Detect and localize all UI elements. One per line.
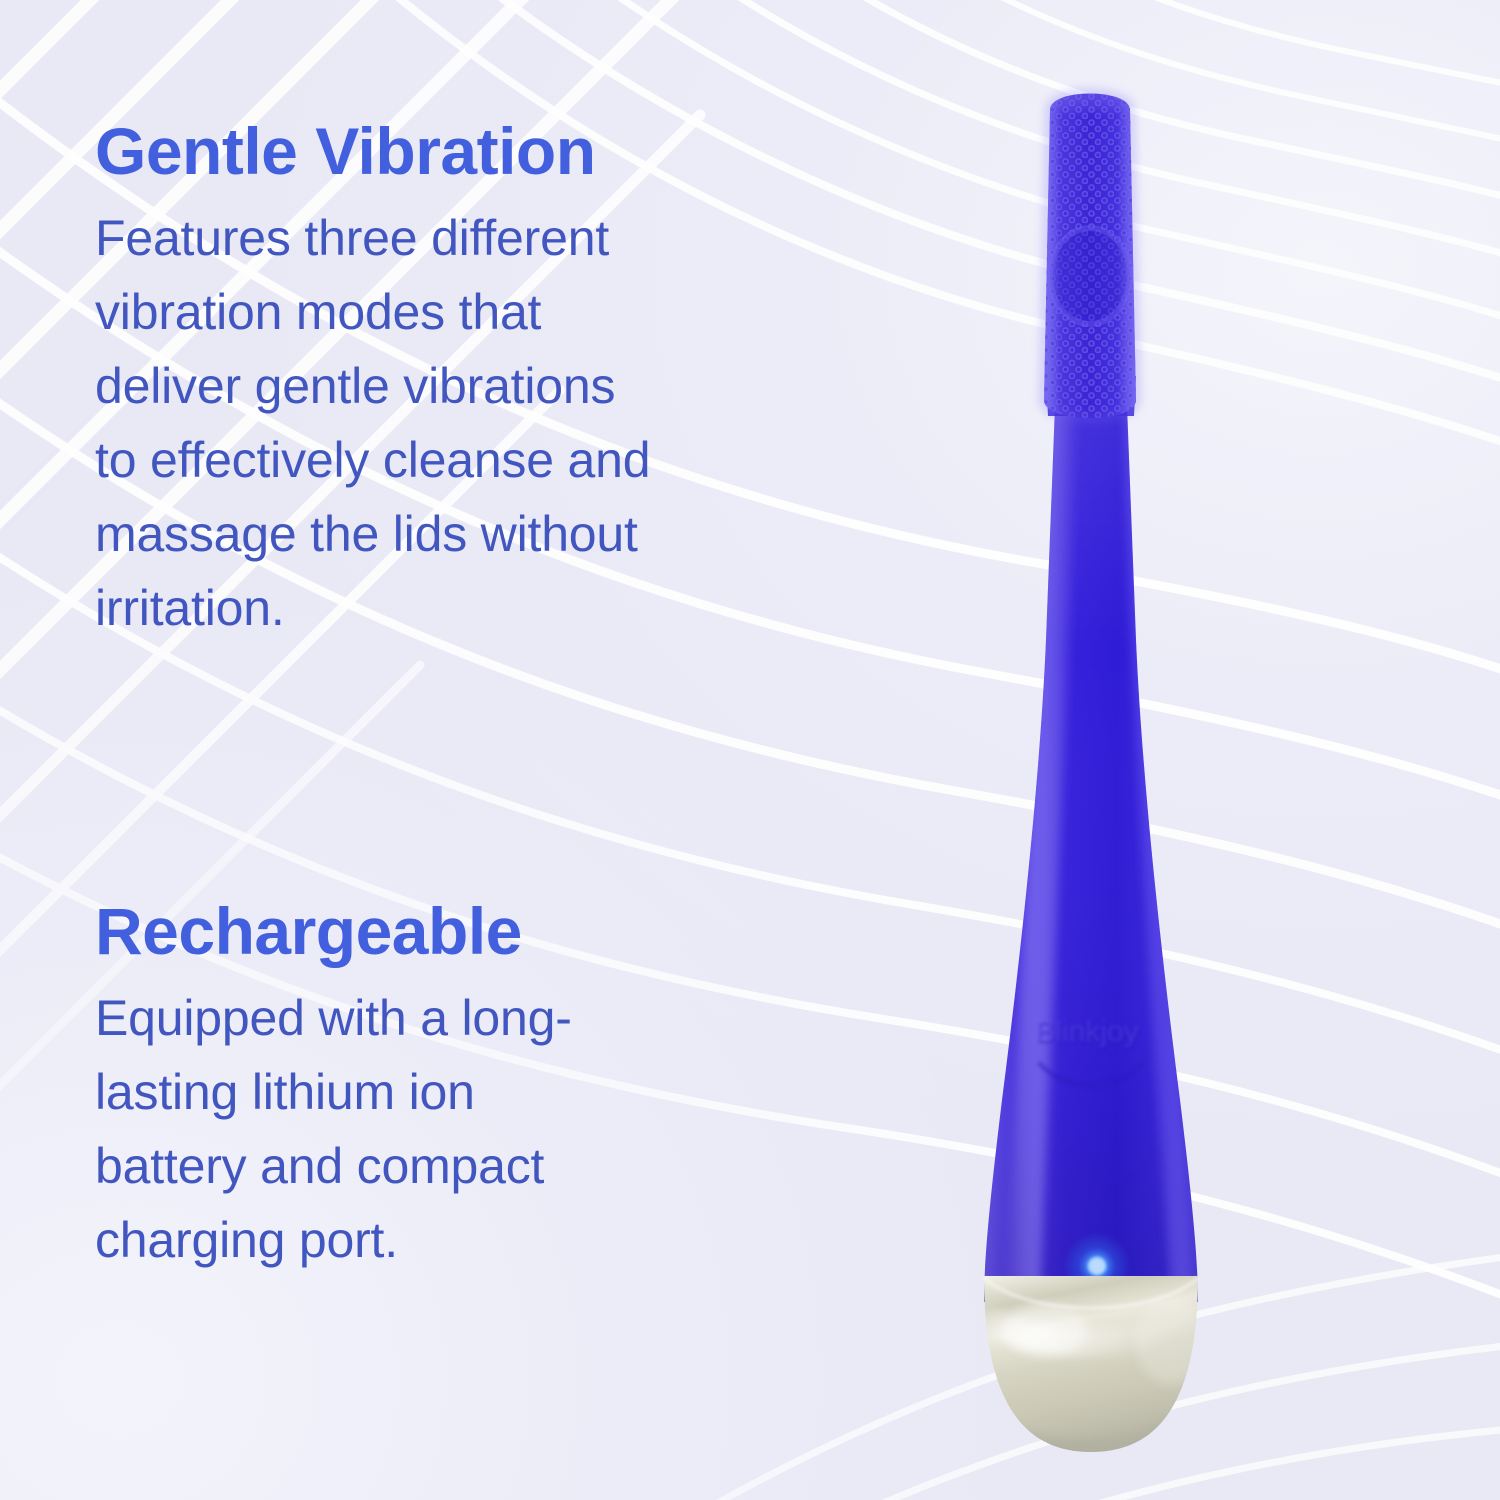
body-line: lasting lithium ion	[95, 1055, 885, 1129]
feature-body-rechargeable: Equipped with a long- lasting lithium io…	[95, 981, 885, 1277]
feature-text-column: Gentle Vibration Features three differen…	[95, 0, 885, 1500]
body-line: Equipped with a long-	[95, 981, 885, 1055]
body-line: vibration modes that	[95, 275, 885, 349]
infographic-canvas: Gentle Vibration Features three differen…	[0, 0, 1500, 1500]
body-line: massage the lids without	[95, 497, 885, 571]
feature-block-gentle-vibration: Gentle Vibration Features three differen…	[95, 118, 885, 645]
body-line: Features three different	[95, 201, 885, 275]
product-image: Blinkjoy Blinkjoy	[880, 80, 1350, 1480]
feature-body-gentle-vibration: Features three different vibration modes…	[95, 201, 885, 645]
feature-block-rechargeable: Rechargeable Equipped with a long- lasti…	[95, 898, 885, 1277]
silicone-brush-head	[1030, 80, 1160, 440]
body-line: irritation.	[95, 571, 885, 645]
body-line: battery and compact	[95, 1129, 885, 1203]
body-line: to effectively cleanse and	[95, 423, 885, 497]
body-line: deliver gentle vibrations	[95, 349, 885, 423]
body-line: charging port.	[95, 1203, 885, 1277]
feature-headline-gentle-vibration: Gentle Vibration	[95, 118, 885, 185]
chrome-base	[976, 1276, 1210, 1460]
feature-headline-rechargeable: Rechargeable	[95, 898, 885, 965]
tapered-handle	[970, 360, 1220, 1320]
svg-text:Blinkjoy: Blinkjoy	[1035, 1015, 1138, 1048]
